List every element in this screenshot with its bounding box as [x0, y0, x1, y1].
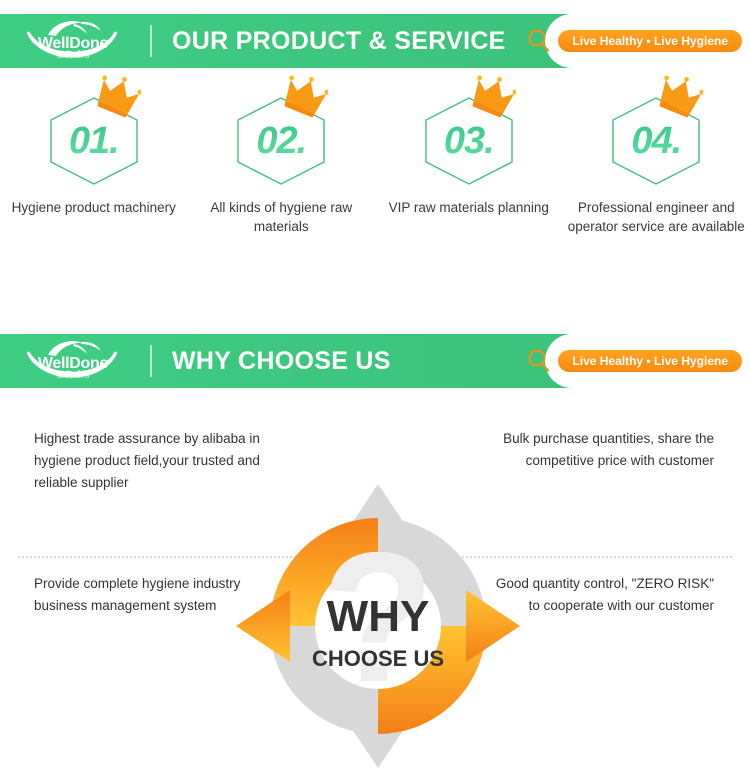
section-header-band-why: WellDone 世茂威翔 WHY CHOOSE US Live Healthy…	[0, 320, 750, 388]
product-card[interactable]: 04. Professional engineer and operator s…	[563, 74, 750, 236]
header-divider	[150, 345, 152, 377]
brand-logo[interactable]: WellDone 世茂威翔	[14, 338, 132, 386]
product-card[interactable]: 03. VIP raw materials planning	[375, 74, 563, 236]
number-badge: 01.	[40, 74, 148, 186]
number-badge: 03.	[415, 74, 523, 186]
section-our-product-and-service: WellDone 世茂威翔 OUR PRODUCT & SERVICE Live…	[0, 0, 750, 318]
card-caption: VIP raw materials planning	[379, 198, 559, 217]
slogan-badge[interactable]: Live Healthy • Live Hygiene	[558, 350, 742, 372]
card-caption: All kinds of hygiene raw materials	[191, 198, 371, 236]
header-divider	[150, 25, 152, 57]
product-card-list: 01. Hygiene product machinery	[0, 74, 750, 236]
magnifier-icon[interactable]	[526, 348, 552, 374]
slogan-badge[interactable]: Live Healthy • Live Hygiene	[558, 30, 742, 52]
crown-icon	[280, 74, 328, 122]
card-caption: Professional engineer and operator servi…	[566, 198, 746, 236]
product-card[interactable]: 02. All kinds of hygiene raw materials	[188, 74, 376, 236]
brand-name-chinese: 世茂威翔	[14, 51, 132, 59]
circular-arrows-cycle-icon: ? WHY CHOOSE US	[228, 476, 528, 776]
brand-logo[interactable]: WellDone 世茂威翔	[14, 18, 132, 66]
number-badge: 04.	[602, 74, 710, 186]
slogan-group-why: Live Healthy • Live Hygiene	[526, 346, 742, 376]
number-badge: 02.	[227, 74, 335, 186]
crown-icon	[468, 74, 516, 122]
card-caption: Hygiene product machinery	[4, 198, 184, 217]
svg-text:CHOOSE US: CHOOSE US	[312, 646, 444, 671]
crown-icon	[655, 74, 703, 122]
section-header-band-products: WellDone 世茂威翔 OUR PRODUCT & SERVICE Live…	[0, 0, 750, 68]
crown-icon	[93, 74, 141, 122]
section-title-products: OUR PRODUCT & SERVICE	[172, 24, 506, 58]
slogan-group-products: Live Healthy • Live Hygiene	[526, 26, 742, 56]
section-title-why: WHY CHOOSE US	[172, 344, 391, 378]
section-why-choose-us: WellDone 世茂威翔 WHY CHOOSE US Live Healthy…	[0, 320, 750, 711]
magnifier-icon[interactable]	[526, 28, 552, 54]
why-choose-us-body: Highest trade assurance by alibaba in hy…	[0, 388, 750, 711]
brand-name-chinese: 世茂威翔	[14, 371, 132, 379]
product-card[interactable]: 01. Hygiene product machinery	[0, 74, 188, 236]
svg-text:WHY: WHY	[327, 592, 430, 641]
why-point-top-right: Bulk purchase quantities, share the comp…	[486, 428, 714, 472]
